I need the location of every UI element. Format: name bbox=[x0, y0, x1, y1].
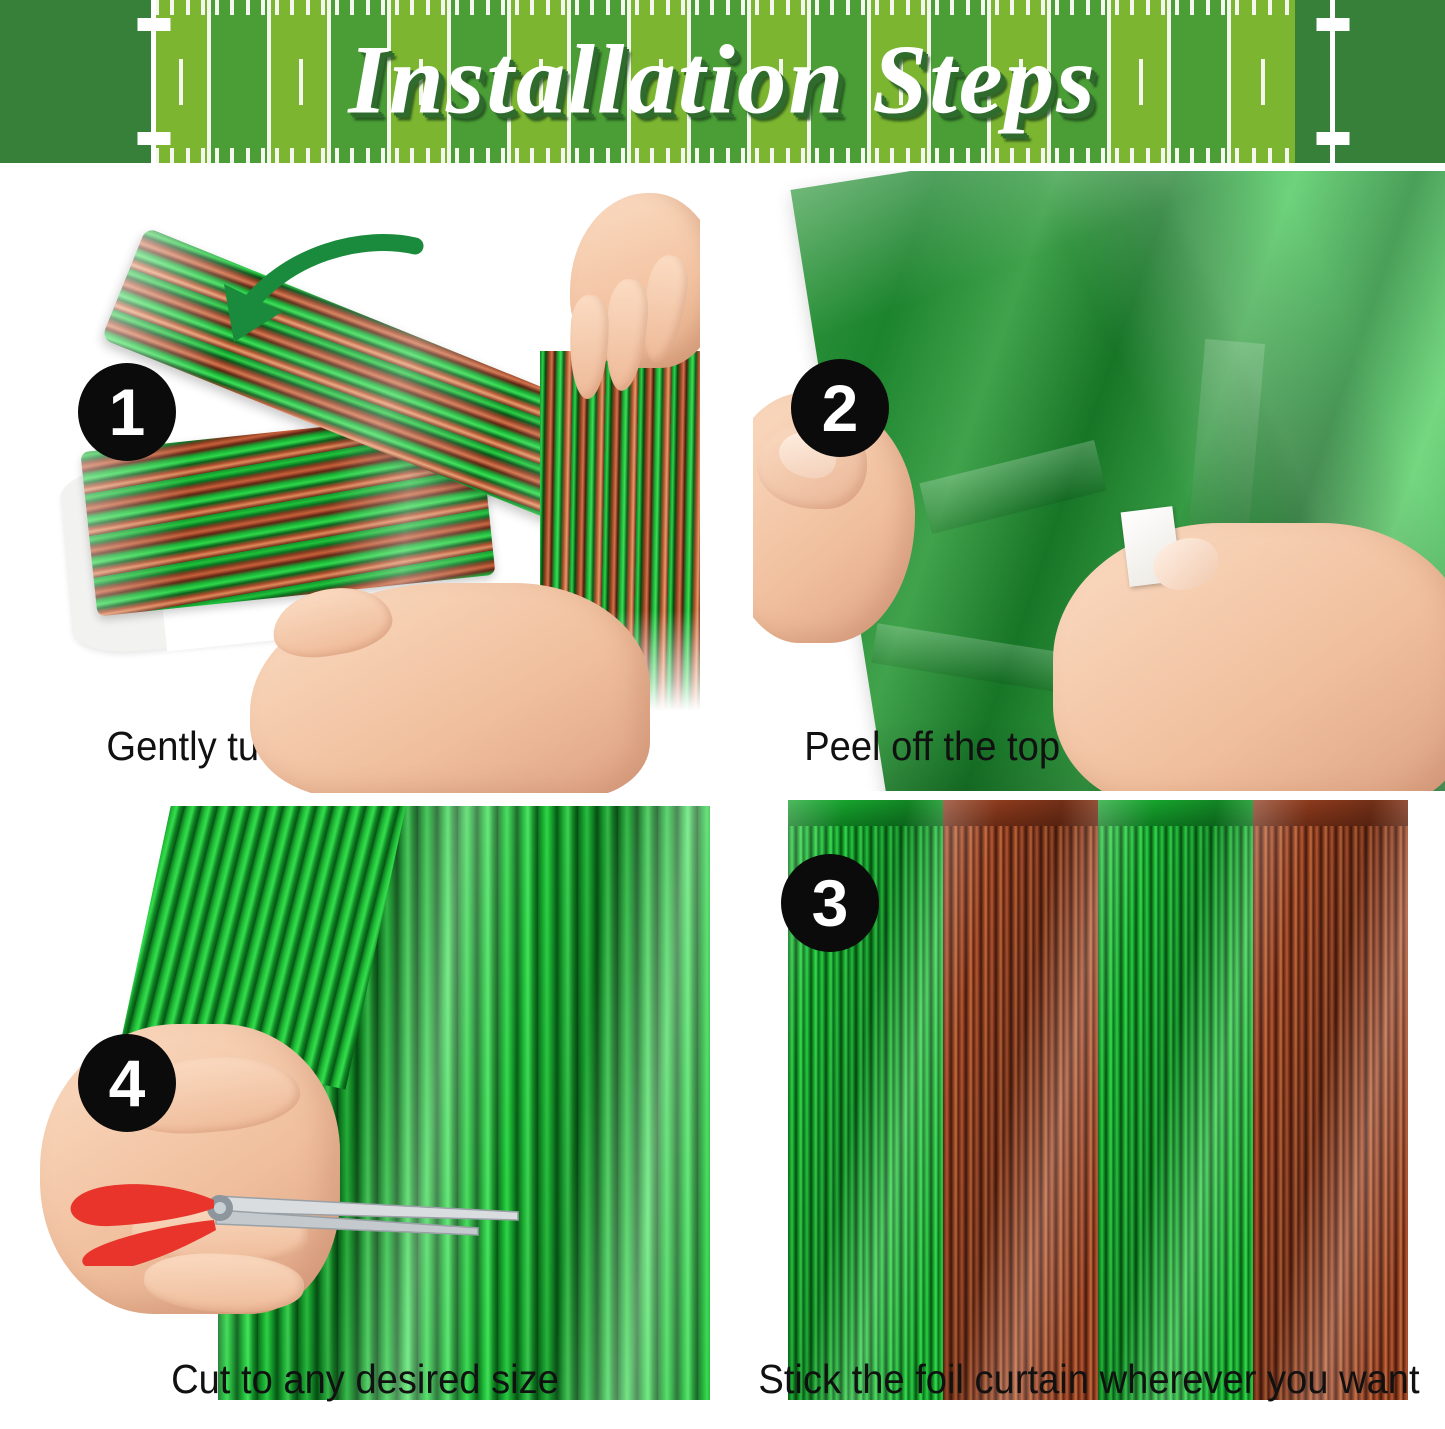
step-2-image bbox=[753, 171, 1445, 791]
scissors-icon bbox=[48, 1136, 528, 1266]
step-panel-4: 4 Cut to any desired size bbox=[0, 796, 730, 1429]
step-panel-3: 3 Stick the foil curtain wherever you wa… bbox=[733, 796, 1445, 1429]
curtain-panel-green-2 bbox=[1098, 800, 1253, 1400]
step-1-image bbox=[40, 183, 700, 793]
step-badge-4: 4 bbox=[78, 1034, 176, 1132]
step-caption-3: Stick the foil curtain wherever you want bbox=[758, 1356, 1420, 1403]
direction-arrow-icon bbox=[190, 228, 430, 378]
steps-grid: 1 Gently turn out the foil curtains 2 Pe… bbox=[0, 163, 1445, 1429]
step-caption-4: Cut to any desired size bbox=[26, 1356, 705, 1403]
step-badge-2: 2 bbox=[791, 359, 889, 457]
step-badge-3: 3 bbox=[781, 854, 879, 952]
curtain-panel-brown-2 bbox=[1253, 800, 1408, 1400]
step-panel-1: 1 Gently turn out the foil curtains bbox=[0, 163, 730, 796]
page-title: Installation Steps bbox=[0, 30, 1445, 129]
curtain-panel-brown-1 bbox=[943, 800, 1098, 1400]
hand-right bbox=[1053, 523, 1445, 791]
step-3-image bbox=[788, 800, 1408, 1400]
step-panel-2: 2 Peel off the top double-sided tape bbox=[733, 163, 1445, 796]
step-badge-1: 1 bbox=[78, 363, 176, 461]
header-banner: Installation Steps bbox=[0, 0, 1445, 163]
